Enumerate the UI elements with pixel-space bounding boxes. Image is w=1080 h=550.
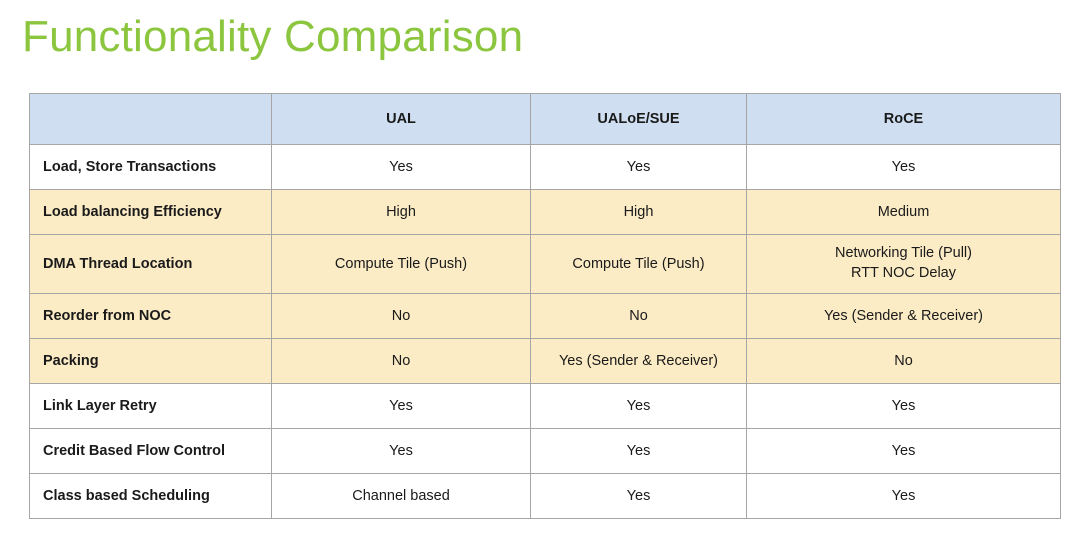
cell-multiline: Networking Tile (Pull)RTT NOC Delay	[757, 244, 1050, 283]
table-header: UAL UALoE/SUE RoCE	[30, 94, 1061, 145]
row-label: Link Layer Retry	[30, 384, 272, 429]
table-row: Reorder from NOCNoNoYes (Sender & Receiv…	[30, 294, 1061, 339]
table-cell: Yes	[531, 429, 747, 474]
table-cell: Yes	[531, 145, 747, 190]
table-cell: Yes	[747, 384, 1061, 429]
page-title: Functionality Comparison	[22, 8, 523, 66]
row-label: DMA Thread Location	[30, 235, 272, 294]
table-cell: Yes	[272, 145, 531, 190]
functionality-comparison-table: UAL UALoE/SUE RoCE Load, Store Transacti…	[29, 93, 1061, 519]
table-row: DMA Thread LocationCompute Tile (Push)Co…	[30, 235, 1061, 294]
row-label: Load balancing Efficiency	[30, 190, 272, 235]
table-cell: Medium	[747, 190, 1061, 235]
comparison-table-container: UAL UALoE/SUE RoCE Load, Store Transacti…	[29, 93, 1060, 519]
row-label: Reorder from NOC	[30, 294, 272, 339]
table-cell: Yes	[272, 384, 531, 429]
table-row: PackingNoYes (Sender & Receiver)No	[30, 339, 1061, 384]
table-row: Credit Based Flow ControlYesYesYes	[30, 429, 1061, 474]
column-header-roce: RoCE	[747, 94, 1061, 145]
table-cell: Compute Tile (Push)	[272, 235, 531, 294]
table-row: Load balancing EfficiencyHighHighMedium	[30, 190, 1061, 235]
table-row: Load, Store TransactionsYesYesYes	[30, 145, 1061, 190]
column-header-ualoe-sue: UALoE/SUE	[531, 94, 747, 145]
table-row: Class based SchedulingChannel basedYesYe…	[30, 474, 1061, 519]
table-cell: Yes	[747, 474, 1061, 519]
table-cell: Yes	[531, 474, 747, 519]
row-label: Credit Based Flow Control	[30, 429, 272, 474]
row-label: Packing	[30, 339, 272, 384]
row-label: Load, Store Transactions	[30, 145, 272, 190]
cell-line: RTT NOC Delay	[757, 264, 1050, 284]
table-cell: No	[272, 294, 531, 339]
table-cell: Networking Tile (Pull)RTT NOC Delay	[747, 235, 1061, 294]
table-cell: Yes	[531, 384, 747, 429]
table-cell: Yes	[747, 429, 1061, 474]
table-cell: High	[272, 190, 531, 235]
table-cell: Yes	[272, 429, 531, 474]
table-row: Link Layer RetryYesYesYes	[30, 384, 1061, 429]
row-label: Class based Scheduling	[30, 474, 272, 519]
table-cell: Yes (Sender & Receiver)	[531, 339, 747, 384]
table-cell: High	[531, 190, 747, 235]
table-cell: Channel based	[272, 474, 531, 519]
table-cell: No	[747, 339, 1061, 384]
table-cell: No	[531, 294, 747, 339]
table-body: Load, Store TransactionsYesYesYesLoad ba…	[30, 145, 1061, 519]
table-cell: Compute Tile (Push)	[531, 235, 747, 294]
table-cell: No	[272, 339, 531, 384]
table-cell: Yes	[747, 145, 1061, 190]
table-cell: Yes (Sender & Receiver)	[747, 294, 1061, 339]
slide-canvas: Functionality Comparison UAL UALoE/SUE R…	[0, 0, 1080, 550]
table-corner-cell	[30, 94, 272, 145]
table-header-row: UAL UALoE/SUE RoCE	[30, 94, 1061, 145]
cell-line: Networking Tile (Pull)	[757, 244, 1050, 264]
column-header-ual: UAL	[272, 94, 531, 145]
